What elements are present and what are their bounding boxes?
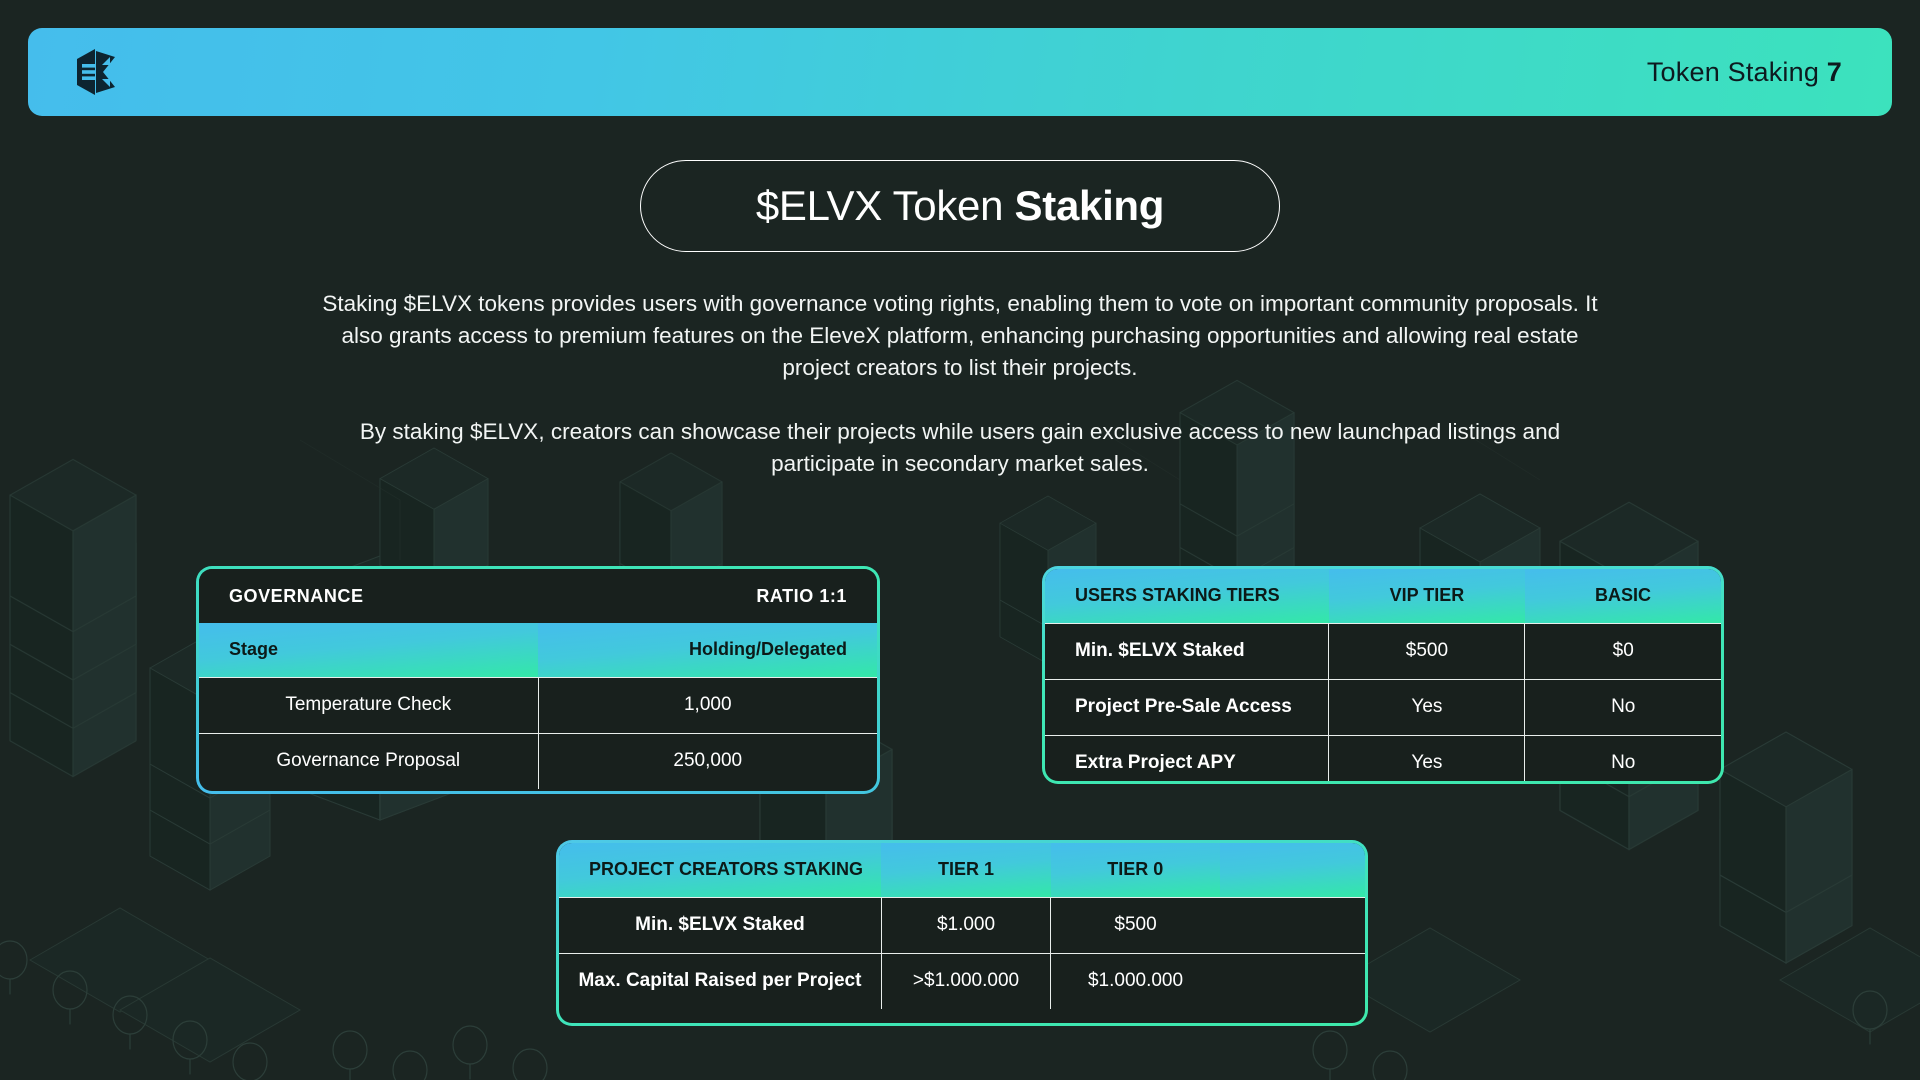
users-row-1-basic: No [1525,679,1721,735]
projects-header-tier1: TIER 1 [881,843,1050,897]
governance-caption-left: GOVERNANCE [199,569,538,623]
users-row-2-basic: No [1525,735,1721,781]
table-row[interactable]: Project Pre-Sale Access Yes No [1045,679,1721,735]
users-staking-tiers-card: USERS STAKING TIERS VIP TIER BASIC Min. … [1042,566,1724,784]
users-row-2-label: Extra Project APY [1045,735,1329,781]
users-row-0-label: Min. $ELVX Staked [1045,623,1329,679]
table-row[interactable]: Governance Proposal 250,000 [199,733,877,789]
intro-copy: Staking $ELVX tokens provides users with… [320,288,1600,480]
users-row-0-basic: $0 [1525,623,1721,679]
table-row[interactable]: Max. Capital Raised per Project >$1.000.… [559,953,1365,1009]
governance-header-holding: Holding/Delegated [538,623,877,677]
projects-header-row: PROJECT CREATORS STAKING TIER 1 TIER 0 [559,843,1365,897]
page-title-prefix: $ELVX Token [756,182,1015,229]
governance-caption-right: RATIO 1:1 [538,569,877,623]
governance-row-0-stage: Temperature Check [199,677,538,733]
governance-row-1-stage: Governance Proposal [199,733,538,789]
governance-table: GOVERNANCE RATIO 1:1 Stage Holding/Deleg… [199,569,877,789]
governance-caption-row: GOVERNANCE RATIO 1:1 [199,569,877,623]
users-header-title: USERS STAKING TIERS [1045,569,1329,623]
page-title-emphasis: Staking [1015,182,1165,229]
projects-row-1-tier1: >$1.000.000 [881,953,1050,1009]
users-header-row: USERS STAKING TIERS VIP TIER BASIC [1045,569,1721,623]
governance-header-row: Stage Holding/Delegated [199,623,877,677]
users-row-0-vip: $500 [1329,623,1525,679]
users-row-2-vip: Yes [1329,735,1525,781]
header-title: Token Staking 7 [1647,57,1842,88]
projects-header-title: PROJECT CREATORS STAKING [559,843,881,897]
governance-table-card: GOVERNANCE RATIO 1:1 Stage Holding/Deleg… [196,566,880,794]
header-title-text: Token Staking [1647,57,1827,87]
intro-paragraph-1: Staking $ELVX tokens provides users with… [320,288,1600,384]
projects-row-0-spacer [1220,897,1365,953]
table-row[interactable]: Min. $ELVX Staked $1.000 $500 [559,897,1365,953]
elevex-hex-logo-icon[interactable] [68,44,124,100]
governance-row-0-value: 1,000 [538,677,877,733]
app-header-bar: Token Staking 7 [28,28,1892,116]
governance-header-stage: Stage [199,623,538,677]
users-header-basic: BASIC [1525,569,1721,623]
table-row[interactable]: Min. $ELVX Staked $500 $0 [1045,623,1721,679]
projects-row-0-tier1: $1.000 [881,897,1050,953]
projects-row-1-label: Max. Capital Raised per Project [559,953,881,1009]
table-row[interactable]: Extra Project APY Yes No [1045,735,1721,781]
intro-paragraph-2: By staking $ELVX, creators can showcase … [320,416,1600,480]
users-header-vip: VIP TIER [1329,569,1525,623]
projects-header-tier0: TIER 0 [1051,843,1220,897]
header-slide-number: 7 [1827,57,1842,87]
projects-row-0-label: Min. $ELVX Staked [559,897,881,953]
users-staking-tiers-table: USERS STAKING TIERS VIP TIER BASIC Min. … [1045,569,1721,781]
projects-header-spacer [1220,843,1365,897]
projects-row-0-tier0: $500 [1051,897,1220,953]
project-creators-staking-card: PROJECT CREATORS STAKING TIER 1 TIER 0 M… [556,840,1368,1026]
users-row-1-label: Project Pre-Sale Access [1045,679,1329,735]
governance-row-1-value: 250,000 [538,733,877,789]
page-title: $ELVX Token Staking [756,182,1164,230]
project-creators-staking-table: PROJECT CREATORS STAKING TIER 1 TIER 0 M… [559,843,1365,1009]
page-title-pill: $ELVX Token Staking [640,160,1280,252]
projects-row-1-tier0: $1.000.000 [1051,953,1220,1009]
users-row-1-vip: Yes [1329,679,1525,735]
table-row[interactable]: Temperature Check 1,000 [199,677,877,733]
projects-row-1-spacer [1220,953,1365,1009]
